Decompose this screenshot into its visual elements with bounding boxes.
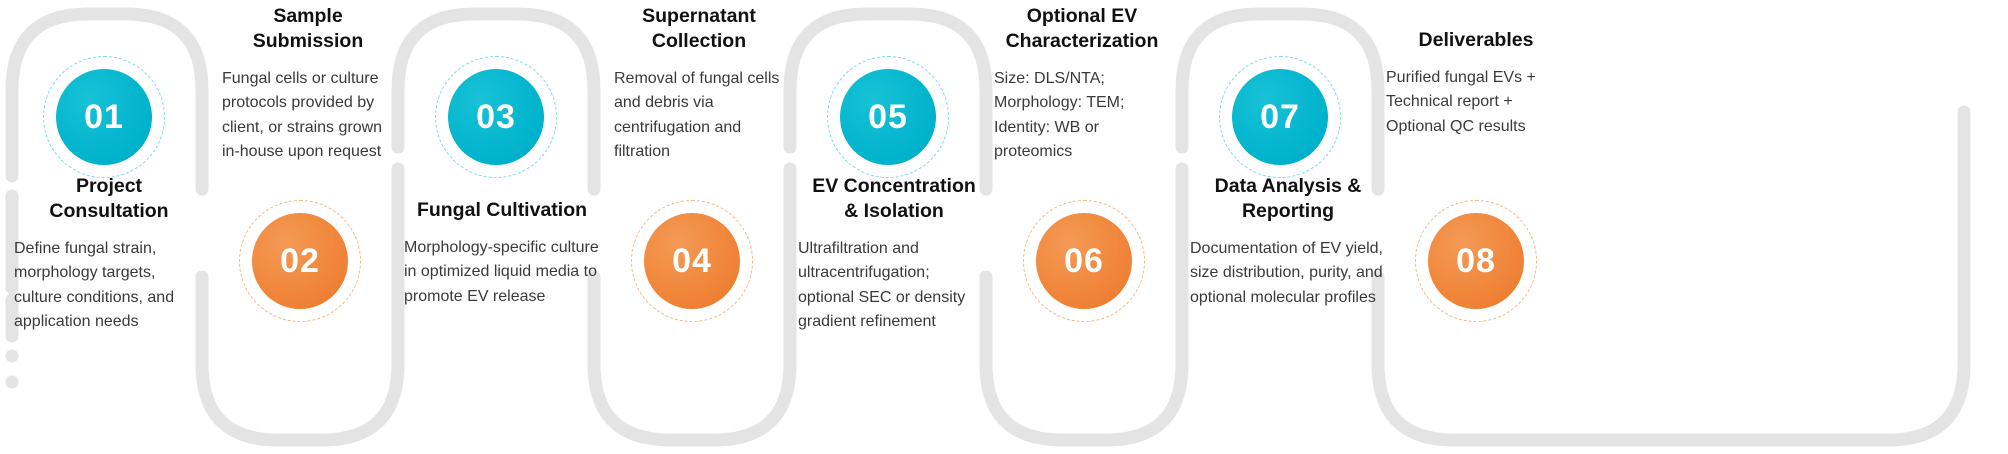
step-circle-01[interactable]: 01: [56, 69, 152, 165]
step-text-08: Deliverables Purified fungal EVs + Techn…: [1386, 28, 1566, 139]
step-body-03: Morphology-specific culture in optimized…: [404, 236, 600, 309]
step-title-06-line1: Optional EV: [994, 4, 1170, 29]
step-body-04: Removal of fungal cells and debris via c…: [614, 67, 784, 164]
step-text-01: Project Consultation Define fungal strai…: [14, 174, 204, 334]
step-text-03: Fungal Cultivation Morphology-specific c…: [404, 198, 600, 309]
step-title-04-line1: Supernatant: [614, 4, 784, 29]
step-title-03-line1: Fungal Cultivation: [404, 198, 600, 223]
step-title-08-line1: Deliverables: [1386, 28, 1566, 53]
step-title-06-line2: Characterization: [994, 29, 1170, 54]
step-body-08: Purified fungal EVs + Technical report +…: [1386, 66, 1566, 139]
step-title-07-line1: Data Analysis &: [1190, 174, 1386, 199]
step-body-05: Ultrafiltration and ultracentrifugation;…: [798, 237, 990, 334]
step-body-07: Documentation of EV yield, size distribu…: [1190, 237, 1386, 310]
step-title-04-line2: Collection: [614, 29, 784, 54]
step-title-01-line2: Consultation: [14, 199, 204, 224]
step-circle-08[interactable]: 08: [1428, 213, 1524, 309]
step-text-06: Optional EV Characterization Size: DLS/N…: [994, 4, 1170, 164]
step-body-01: Define fungal strain, morphology targets…: [14, 237, 204, 334]
step-text-07: Data Analysis & Reporting Documentation …: [1190, 174, 1386, 310]
step-title-05-line2: & Isolation: [798, 199, 990, 224]
step-circle-06[interactable]: 06: [1036, 213, 1132, 309]
step-title-02-line1: Sample: [222, 4, 394, 29]
entry-dot: [6, 376, 19, 389]
step-title-07-line2: Reporting: [1190, 199, 1386, 224]
step-body-06: Size: DLS/NTA; Morphology: TEM; Identity…: [994, 67, 1170, 164]
step-text-05: EV Concentration & Isolation Ultrafiltra…: [798, 174, 990, 334]
workflow-diagram: 01 Project Consultation Define fungal st…: [0, 0, 2008, 454]
step-circle-05[interactable]: 05: [840, 69, 936, 165]
step-title-02-line2: Submission: [222, 29, 394, 54]
step-circle-03[interactable]: 03: [448, 69, 544, 165]
step-title-01-line1: Project: [14, 174, 204, 199]
step-text-04: Supernatant Collection Removal of fungal…: [614, 4, 784, 164]
step-text-02: Sample Submission Fungal cells or cultur…: [222, 4, 394, 164]
step-title-05-line1: EV Concentration: [798, 174, 990, 199]
step-circle-02[interactable]: 02: [252, 213, 348, 309]
step-circle-04[interactable]: 04: [644, 213, 740, 309]
entry-dot: [6, 350, 19, 363]
step-body-02: Fungal cells or culture protocols provid…: [222, 67, 394, 164]
step-circle-07[interactable]: 07: [1232, 69, 1328, 165]
